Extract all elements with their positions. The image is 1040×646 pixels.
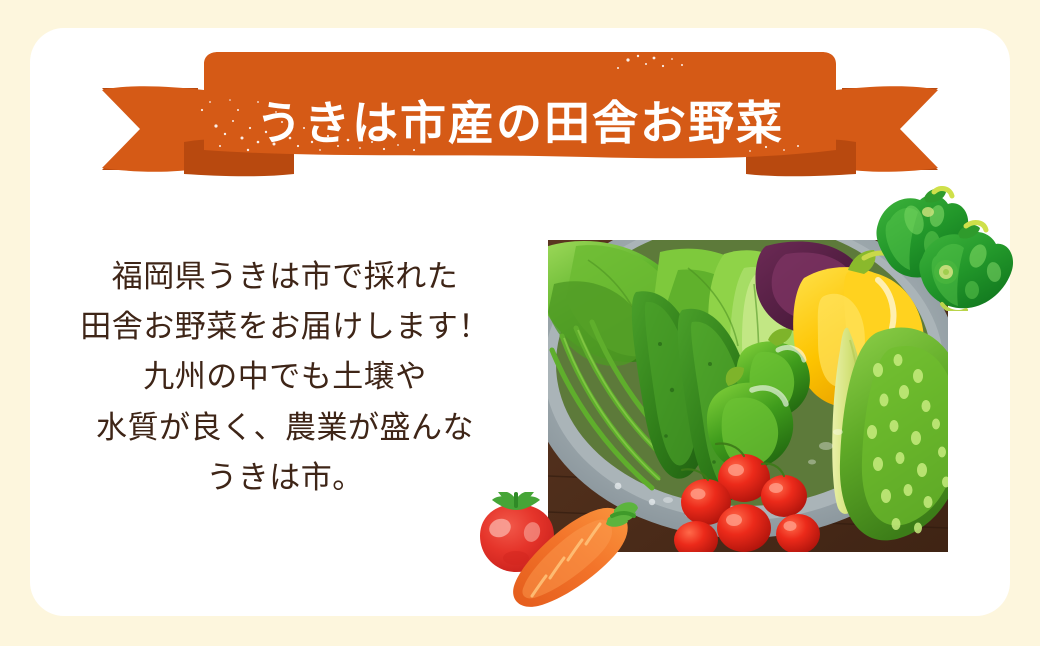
description-line-3: 九州の中でも土壌や: [60, 352, 510, 402]
description-line-5: うきは市。: [60, 453, 510, 503]
ribbon-shape: [98, 50, 942, 190]
ribbon-texture-left: [118, 108, 228, 160]
description-line-4: 水質が良く、農業が盛んな: [60, 403, 510, 453]
description-line-2: 田舎お野菜をお届けします！: [60, 302, 510, 352]
vegetables-photo-image: [548, 240, 948, 552]
ribbon-banner: うきは市産の田舎お野菜: [98, 50, 942, 190]
ribbon-body: [204, 52, 836, 154]
vegetables-photo: [548, 240, 948, 552]
description-line-1: 福岡県うきは市で採れた: [60, 252, 510, 302]
description-text: 福岡県うきは市で採れた 田舎お野菜をお届けします！ 九州の中でも土壌や 水質が良…: [60, 252, 510, 503]
